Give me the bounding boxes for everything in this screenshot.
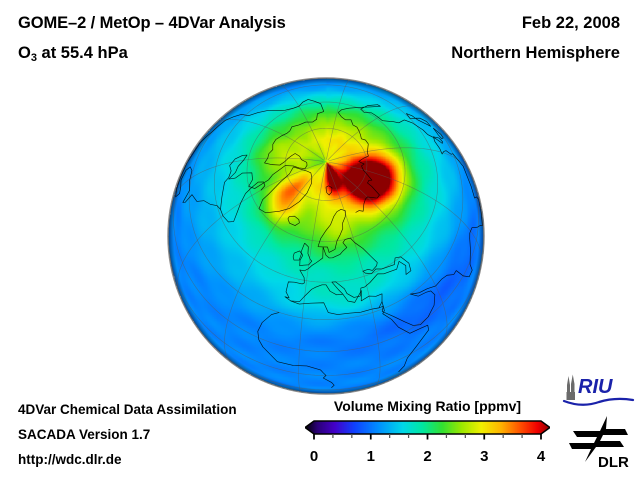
- footer-line-version: SACADA Version 1.7: [18, 427, 150, 442]
- colorbar-tick-0: 0: [310, 448, 318, 465]
- species-level-label: O3 at 55.4 hPa: [18, 44, 128, 63]
- globe-map: [165, 75, 487, 397]
- figure-page: GOME–2 / MetOp – 4DVar Analysis O3 at 55…: [0, 0, 640, 480]
- dlr-wordmark: DLR: [598, 454, 629, 470]
- date-label: Feb 22, 2008: [522, 14, 620, 33]
- species-subscript: 3: [31, 52, 37, 64]
- page-title: GOME–2 / MetOp – 4DVar Analysis: [18, 14, 286, 33]
- riu-wordmark: RIU: [578, 376, 613, 398]
- colorbar-tick-labels: 01234: [305, 448, 550, 472]
- level-text: at 55.4 hPa: [37, 44, 128, 62]
- colorbar-gradient: [305, 418, 550, 450]
- colorbar-tick-3: 3: [480, 448, 488, 465]
- colorbar-title: Volume Mixing Ratio [ppmv]: [305, 398, 550, 414]
- riu-cathedral-towers-icon: [567, 375, 576, 401]
- species-symbol: O: [18, 44, 31, 62]
- region-label: Northern Hemisphere: [451, 44, 620, 63]
- riu-logo: RIU: [560, 372, 636, 408]
- dlr-logo: DLR: [565, 414, 637, 470]
- footer-line-assimilation: 4DVar Chemical Data Assimilation: [18, 402, 237, 417]
- colorbar: Volume Mixing Ratio [ppmv] 01234: [305, 398, 550, 476]
- colorbar-tick-4: 4: [537, 448, 545, 465]
- colorbar-tick-1: 1: [367, 448, 375, 465]
- colorbar-tick-2: 2: [423, 448, 431, 465]
- footer-line-url: http://wdc.dlr.de: [18, 452, 122, 467]
